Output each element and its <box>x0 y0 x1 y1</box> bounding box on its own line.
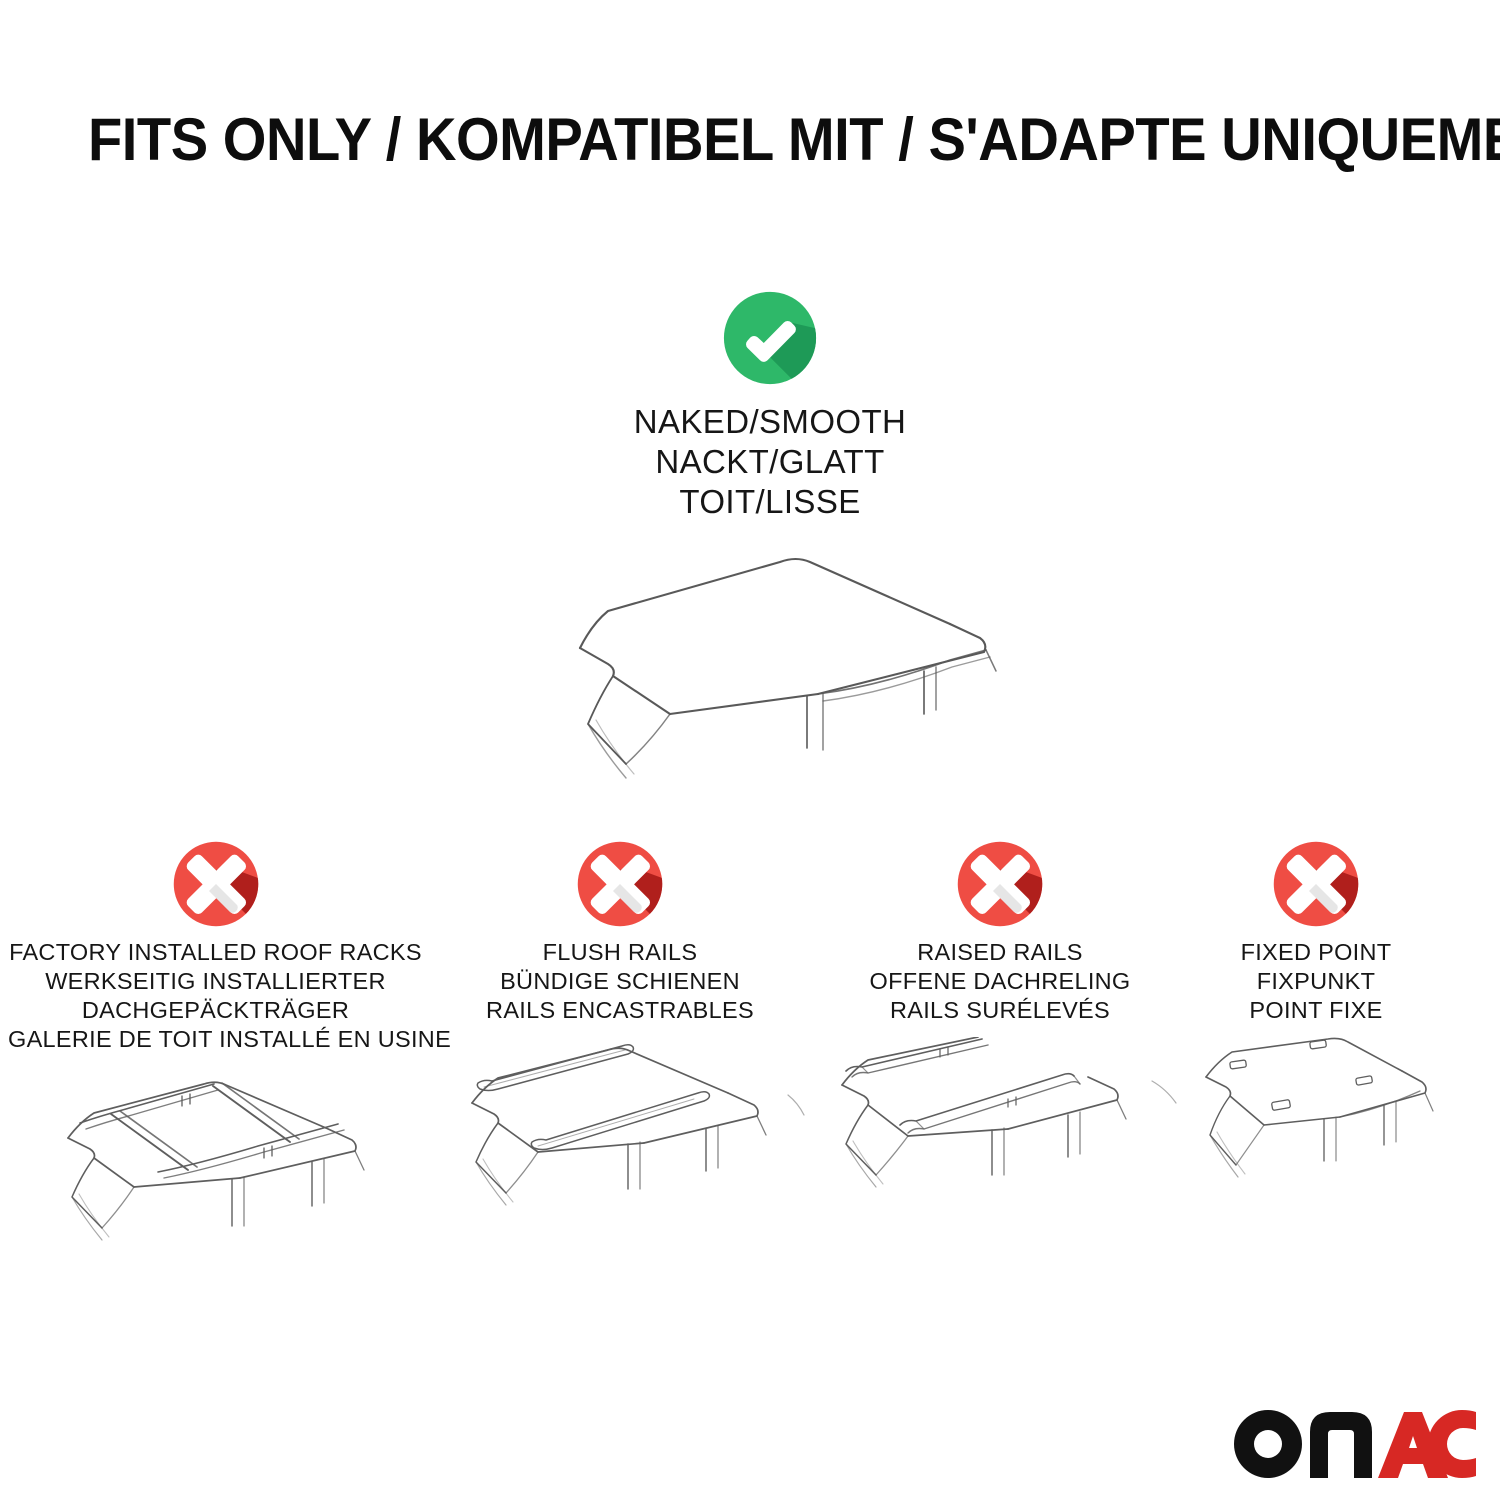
incompatible-item-factory-installed-roof-racks: FACTORY INSTALLED ROOF RACKS WERKSEITIG … <box>8 840 423 1281</box>
cross-circle-icon <box>576 840 664 928</box>
incompatible-label-1-line-3: RAILS ENCASTRABLES <box>432 996 808 1025</box>
compatible-label: NAKED/SMOOTH NACKT/GLATT TOIT/LISSE <box>480 402 1060 522</box>
cross-badge-wrap-0 <box>8 840 423 928</box>
cross-circle-icon <box>172 840 260 928</box>
incompatible-label-2: RAISED RAILS OFFENE DACHRELING RAILS SUR… <box>812 938 1188 1025</box>
incompatible-label-3: FIXED POINT FIXPUNKT POINT FIXE <box>1192 938 1440 1025</box>
check-badge-wrap <box>480 290 1060 386</box>
cross-badge-wrap-2 <box>812 840 1188 928</box>
incompatible-label-2-line-2: OFFENE DACHRELING <box>812 967 1188 996</box>
incompatible-item-raised-rails: RAISED RAILS OFFENE DACHRELING RAILS SUR… <box>812 840 1188 1252</box>
incompatible-label-3-line-2: FIXPUNKT <box>1192 967 1440 996</box>
page-title: FITS ONLY / KOMPATIBEL MIT / S'ADAPTE UN… <box>88 108 1332 172</box>
incompatible-label-3-line-3: POINT FIXE <box>1192 996 1440 1025</box>
incompatible-label-2-line-3: RAILS SURÉLEVÉS <box>812 996 1188 1025</box>
cross-badge-wrap-3 <box>1192 840 1440 928</box>
compatible-label-line-3: TOIT/LISSE <box>480 482 1060 522</box>
omac-logo <box>1232 1408 1476 1480</box>
car-roof-with-factory-rack-illustration <box>8 1066 423 1276</box>
incompatible-label-2-line-1: RAISED RAILS <box>812 938 1188 967</box>
incompatible-label-1: FLUSH RAILS BÜNDIGE SCHIENEN RAILS ENCAS… <box>432 938 808 1025</box>
cross-circle-icon <box>956 840 1044 928</box>
incompatible-item-flush-rails: FLUSH RAILS BÜNDIGE SCHIENEN RAILS ENCAS… <box>432 840 808 1252</box>
compatible-label-line-1: NAKED/SMOOTH <box>480 402 1060 442</box>
cross-badge-wrap-1 <box>432 840 808 928</box>
incompatible-label-1-line-1: FLUSH RAILS <box>432 938 808 967</box>
incompatible-label-3-line-1: FIXED POINT <box>1192 938 1440 967</box>
incompatible-label-1-line-2: BÜNDIGE SCHIENEN <box>432 967 808 996</box>
car-roof-with-raised-rails-illustration <box>812 1037 1188 1247</box>
check-circle-icon <box>722 290 818 386</box>
bare-smooth-car-roof-illustration <box>480 528 1060 828</box>
incompatible-item-fixed-point: FIXED POINT FIXPUNKT POINT FIXE <box>1192 840 1440 1252</box>
incompatible-label-0: FACTORY INSTALLED ROOF RACKS WERKSEITIG … <box>8 938 423 1054</box>
compatible-label-line-2: NACKT/GLATT <box>480 442 1060 482</box>
incompatible-label-0-line-1: FACTORY INSTALLED ROOF RACKS <box>8 938 423 967</box>
compatible-section: NAKED/SMOOTH NACKT/GLATT TOIT/LISSE <box>480 290 1060 833</box>
incompatible-row: FACTORY INSTALLED ROOF RACKS WERKSEITIG … <box>0 840 1500 1280</box>
cross-circle-icon <box>1272 840 1360 928</box>
compatibility-infographic: FITS ONLY / KOMPATIBEL MIT / S'ADAPTE UN… <box>0 0 1500 1500</box>
incompatible-label-0-line-3: DACHGEPÄCKTRÄGER <box>8 996 423 1025</box>
incompatible-label-0-line-4: GALERIE DE TOIT INSTALLÉ EN USINE <box>8 1025 423 1054</box>
car-roof-with-fixed-points-illustration <box>1192 1037 1440 1247</box>
incompatible-label-0-line-2: WERKSEITIG INSTALLIERTER <box>8 967 423 996</box>
car-roof-with-flush-rails-illustration <box>432 1037 808 1247</box>
